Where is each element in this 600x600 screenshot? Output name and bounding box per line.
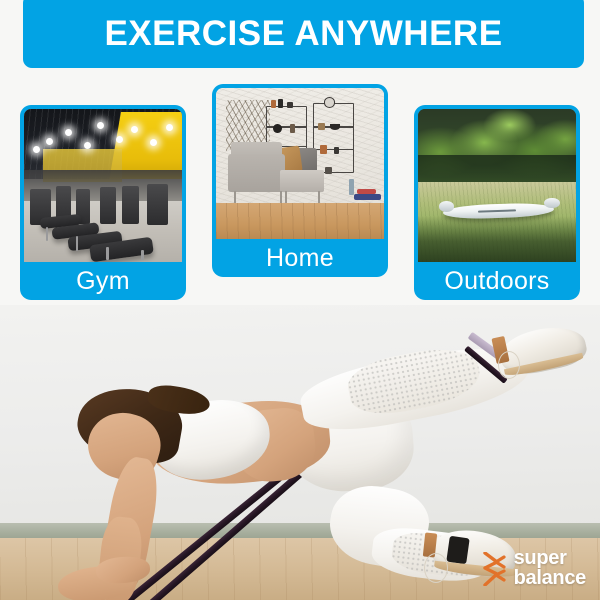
brand-name-line2: balance xyxy=(514,569,586,588)
card-label-outdoors: Outdoors xyxy=(418,262,576,300)
gym-ceiling-lights xyxy=(24,115,182,167)
home-mat xyxy=(354,194,381,200)
outdoors-ground-shadow xyxy=(418,216,576,262)
gym-machine xyxy=(122,186,139,224)
home-clock xyxy=(324,97,336,108)
home-decor xyxy=(287,102,294,108)
brand-logo-wordmark: super balance xyxy=(514,549,586,588)
brand-name-line1: super xyxy=(514,549,586,568)
page-title: EXERCISE ANYWHERE xyxy=(104,12,502,51)
card-home[interactable]: Home xyxy=(212,84,388,277)
outdoors-scene xyxy=(418,109,576,262)
card-outdoors[interactable]: Outdoors xyxy=(414,105,580,300)
home-sofa xyxy=(228,154,285,192)
home-decor xyxy=(290,124,295,133)
shoe-lace-supporting xyxy=(424,553,448,583)
home-shelf-right xyxy=(313,103,353,172)
home-decor xyxy=(320,145,327,154)
shoe-lace-raised xyxy=(498,351,520,379)
super-balance-x-mark-icon xyxy=(483,552,507,586)
card-label-gym: Gym xyxy=(24,262,182,300)
outdoors-photo xyxy=(418,109,576,262)
home-photo xyxy=(216,88,384,239)
home-decor xyxy=(325,167,332,175)
home-decor xyxy=(334,147,339,155)
home-decor xyxy=(318,123,325,131)
gym-machine xyxy=(100,187,116,224)
card-label-home: Home xyxy=(216,239,384,277)
hero-photo: super balance xyxy=(0,305,600,600)
home-scene xyxy=(216,88,384,239)
home-floor xyxy=(216,203,384,239)
home-mat xyxy=(357,189,375,194)
outdoors-board-stripe xyxy=(479,210,517,213)
home-decor xyxy=(278,99,283,108)
home-decor xyxy=(271,100,276,108)
headline-banner: EXERCISE ANYWHERE xyxy=(23,0,584,68)
brand-logo: super balance xyxy=(483,549,586,588)
shoe-supporting-panel xyxy=(446,536,469,565)
outdoors-board-tip xyxy=(439,201,455,212)
gym-scene xyxy=(24,109,182,262)
card-gym[interactable]: Gym xyxy=(20,105,186,300)
home-decor xyxy=(273,124,281,133)
home-bottle xyxy=(349,179,354,196)
home-ottoman xyxy=(280,170,324,193)
promo-section: EXERCISE ANYWHERE xyxy=(0,0,600,305)
gym-photo xyxy=(24,109,182,262)
gym-machine xyxy=(147,184,168,225)
